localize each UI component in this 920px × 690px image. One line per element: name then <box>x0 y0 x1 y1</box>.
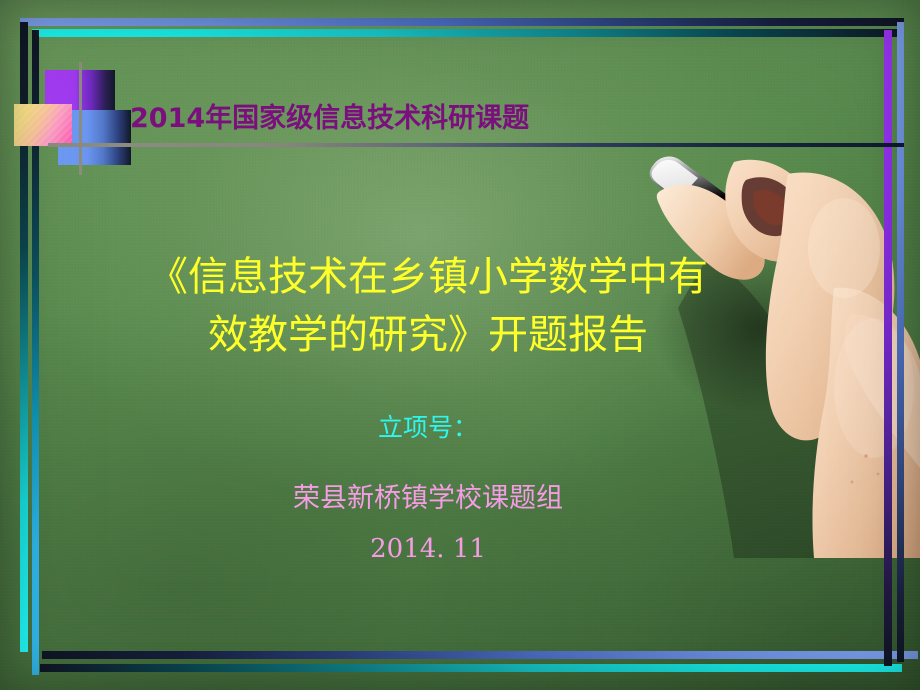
chalkboard-vignette <box>0 0 920 690</box>
presentation-slide: 2014年国家级信息技术科研课题 《信息技术在乡镇小学数学中有 效教学的研究》开… <box>0 0 920 690</box>
